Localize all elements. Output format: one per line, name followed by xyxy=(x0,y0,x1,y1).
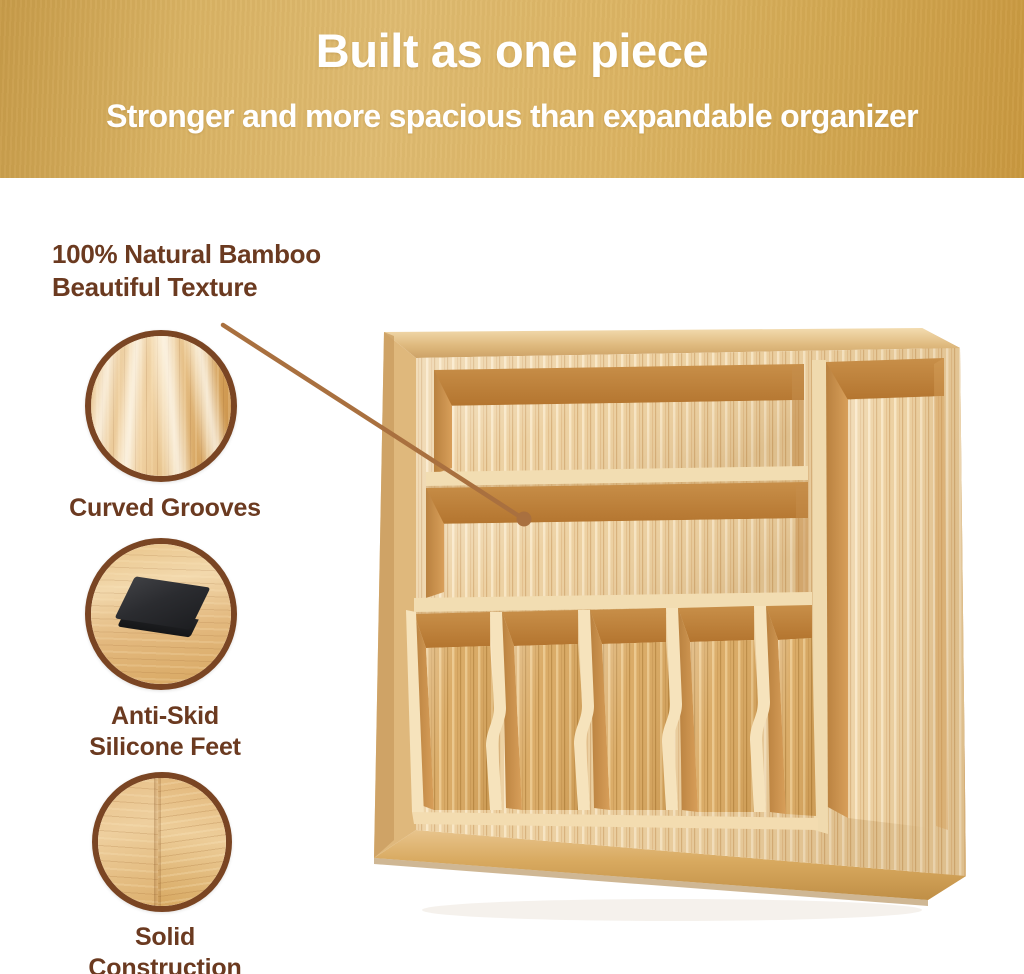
feature-label-line2: Construction xyxy=(0,953,330,974)
callout-heading-line1: 100% Natural Bamboo xyxy=(52,238,432,271)
infographic-page: Built as one piece Stronger and more spa… xyxy=(0,0,1024,974)
compartment-middle-wide xyxy=(426,482,808,598)
bamboo-joint-texture xyxy=(98,778,226,906)
product-image-bamboo-drawer-organizer xyxy=(356,310,986,930)
bamboo-groove-texture xyxy=(91,336,231,476)
curved-grooves-icon xyxy=(85,330,237,482)
feature-label-line1: Solid xyxy=(0,922,330,953)
banner-title: Built as one piece xyxy=(0,26,1024,75)
black-foot-shape xyxy=(91,544,231,684)
slot-5 xyxy=(766,605,816,816)
compartment-top-wide xyxy=(434,364,804,474)
callout-heading-line2: Beautiful Texture xyxy=(52,271,432,304)
feature-label-curved-grooves: Curved Grooves xyxy=(0,493,330,524)
feature-label-line1: Anti-Skid xyxy=(0,701,330,732)
corner-joint-icon xyxy=(92,772,232,912)
feature-label-solid-construction: Solid Construction xyxy=(0,922,330,974)
header-banner: Built as one piece Stronger and more spa… xyxy=(0,0,1024,178)
callout-heading: 100% Natural Bamboo Beautiful Texture xyxy=(52,238,432,305)
feature-label-line2: Silicone Feet xyxy=(0,732,330,763)
feature-curved-grooves: Curved Grooves xyxy=(0,330,330,530)
silicone-foot-icon xyxy=(85,538,237,690)
feature-label-anti-skid: Anti-Skid Silicone Feet xyxy=(0,701,330,762)
feature-anti-skid-silicone-feet: Anti-Skid Silicone Feet xyxy=(0,538,330,758)
bamboo-base-texture xyxy=(91,544,231,684)
feature-label-line1: Curved Grooves xyxy=(0,493,330,524)
compartment-bottom-slots xyxy=(406,605,818,830)
feature-solid-construction: Solid Construction xyxy=(0,772,330,972)
compartment-right-tall xyxy=(826,358,948,830)
banner-subtitle: Stronger and more spacious than expandab… xyxy=(0,100,1024,134)
